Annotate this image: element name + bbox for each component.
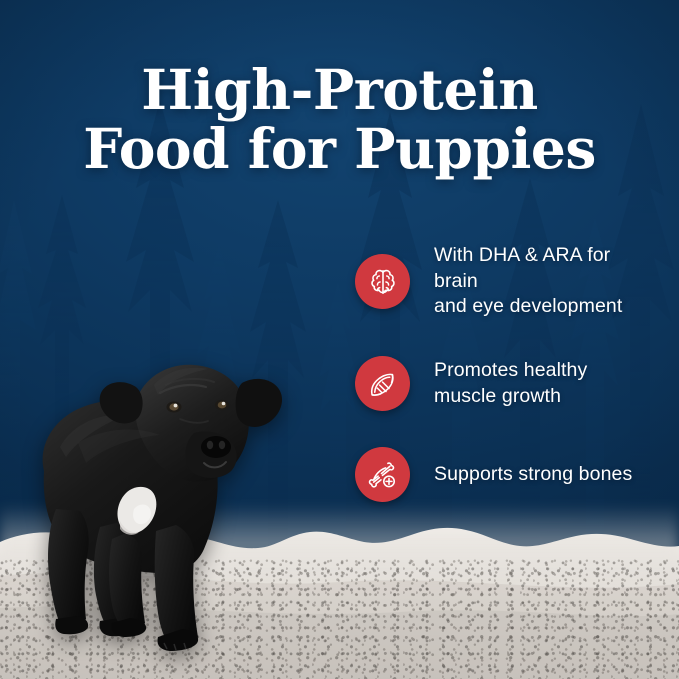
brain-icon-badge (355, 254, 410, 309)
bone-plus-icon-badge (355, 447, 410, 502)
headline-line-2: Food for Puppies (0, 122, 679, 176)
muscle-icon (365, 366, 401, 402)
feature-label-muscle: Promotes healthy muscle growth (434, 358, 587, 409)
brain-icon (365, 264, 401, 300)
muscle-icon-badge (355, 356, 410, 411)
feature-label-bones: Supports strong bones (434, 462, 632, 488)
product-feature-banner: High-Protein Food for Puppies (0, 0, 679, 679)
page-title: High-Protein Food for Puppies (0, 63, 679, 176)
puppy-photo (8, 351, 298, 651)
bone-plus-icon (365, 457, 401, 493)
feature-item-bones: Supports strong bones (355, 447, 655, 502)
headline-line-1: High-Protein (0, 63, 679, 117)
feature-item-muscle: Promotes healthy muscle growth (355, 356, 655, 411)
feature-label-brain: With DHA & ARA for brain and eye develop… (434, 243, 655, 320)
feature-item-brain: With DHA & ARA for brain and eye develop… (355, 243, 655, 320)
feature-list: With DHA & ARA for brain and eye develop… (355, 243, 655, 502)
